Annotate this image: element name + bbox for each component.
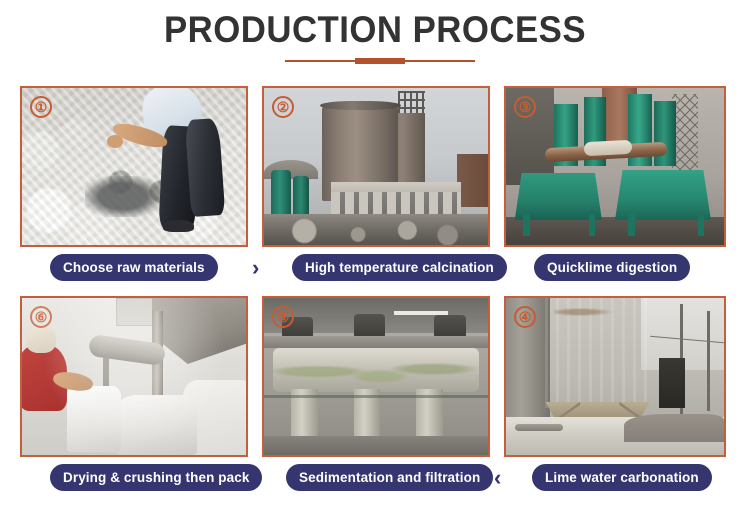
- step-badge-2: ②: [272, 96, 294, 118]
- scene-kiln-silo: [264, 88, 488, 245]
- step-label-6[interactable]: Lime water carbonation: [532, 464, 712, 491]
- step-label-2[interactable]: High temperature calcination: [292, 254, 507, 281]
- step-card-6[interactable]: ④ Lime water carbonation: [504, 296, 726, 496]
- flow-arrow-2: ›: [494, 254, 501, 281]
- step-label-1[interactable]: Choose raw materials: [50, 254, 218, 281]
- step-card-4[interactable]: ⑥ Drying & crushing then pack: [20, 296, 248, 496]
- step-badge-4: ⑥: [30, 306, 52, 328]
- step-card-3[interactable]: ③ Quicklime digestion: [504, 86, 726, 282]
- step-badge-3: ③: [514, 96, 536, 118]
- step-photo-1: ①: [20, 86, 248, 247]
- step-photo-4: ⑥: [20, 296, 248, 457]
- scene-sedimentation-filtration: [264, 298, 488, 455]
- step-badge-1: ①: [30, 96, 52, 118]
- production-process-infographic: PRODUCTION PROCESS ① Choose raw material…: [0, 0, 750, 519]
- scene-lime-water-carbonation: [506, 298, 724, 455]
- flow-arrow-3: ‹: [252, 464, 259, 491]
- step-card-5[interactable]: ⑤ Sedimentation and filtration: [262, 296, 490, 496]
- step-label-4[interactable]: Drying & crushing then pack: [50, 464, 262, 491]
- page-title-block: PRODUCTION PROCESS: [0, 8, 750, 52]
- step-badge-5: ⑤: [272, 306, 294, 328]
- flow-arrow-1: ›: [252, 254, 259, 281]
- step-photo-6: ④: [504, 296, 726, 457]
- scene-limestone-quarry: [22, 88, 246, 245]
- step-badge-6: ④: [514, 306, 536, 328]
- title-divider: [0, 57, 750, 65]
- step-photo-5: ⑤: [262, 296, 490, 457]
- scene-quicklime-digestion: [506, 88, 724, 245]
- flow-arrow-4: ‹: [494, 464, 501, 491]
- step-photo-2: ②: [262, 86, 490, 247]
- step-card-1[interactable]: ① Choose raw materials: [20, 86, 248, 282]
- scene-drying-packing: [22, 298, 246, 455]
- step-label-5[interactable]: Sedimentation and filtration: [286, 464, 493, 491]
- divider-accent: [355, 58, 405, 64]
- step-photo-3: ③: [504, 86, 726, 247]
- step-label-3[interactable]: Quicklime digestion: [534, 254, 690, 281]
- step-card-2[interactable]: ② High temperature calcination: [262, 86, 490, 282]
- page-title: PRODUCTION PROCESS: [23, 8, 728, 52]
